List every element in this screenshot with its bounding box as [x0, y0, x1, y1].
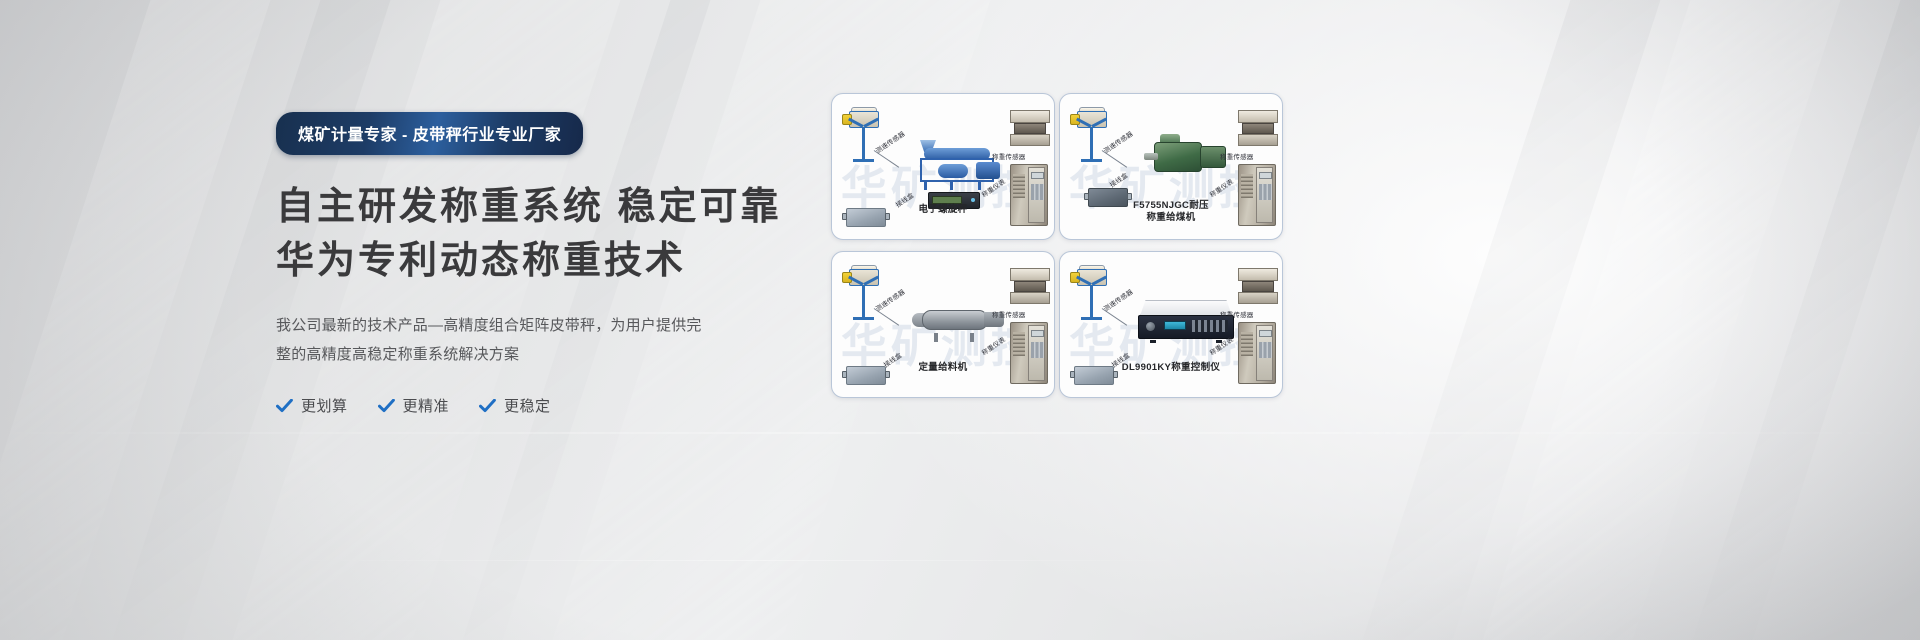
speed-sensor-device — [842, 263, 884, 303]
check-icon — [378, 399, 395, 413]
card-title: 定量给料机 — [832, 362, 1054, 375]
speed-sensor-device — [1070, 105, 1112, 145]
product-card-coal-feeder[interactable]: 华矿测控 测速传感器 称重传感器 接线盒 — [1059, 93, 1283, 240]
feature-item: 更划算 — [276, 395, 348, 416]
feature-item: 更精准 — [378, 395, 450, 416]
product-card-weighing-controller[interactable]: 华矿测控 测速传感器 称重传感器 — [1059, 251, 1283, 398]
card-title-line-2: 称重给煤机 — [1060, 212, 1282, 225]
label-weight-sensor: 称重传感器 — [1220, 309, 1254, 319]
screw-conveyor-device — [916, 140, 1002, 190]
feature-label: 更划算 — [301, 395, 348, 416]
check-icon — [479, 399, 496, 413]
control-panel-device — [1138, 300, 1234, 340]
page-title: 自主研发称重系统 稳定可靠 华为专利动态称重技术 — [276, 181, 896, 289]
load-cell-device — [1008, 266, 1052, 306]
card-title: DL9901KY称重控制仪 — [1060, 362, 1282, 375]
speed-sensor-device — [842, 105, 884, 145]
feature-label: 更稳定 — [504, 395, 551, 416]
feature-item: 更稳定 — [479, 395, 551, 416]
product-card-screw-scale[interactable]: 华矿测控 测速传感器 称重传感器 — [831, 93, 1055, 240]
check-icon — [276, 399, 293, 413]
load-cell-device — [1236, 266, 1280, 306]
speed-sensor-device — [1070, 263, 1112, 303]
hero-banner: 煤矿计量专家 - 皮带秤行业专业厂家 自主研发称重系统 稳定可靠 华为专利动态称… — [0, 0, 1920, 640]
tagline-badge: 煤矿计量专家 - 皮带秤行业专业厂家 — [276, 112, 583, 155]
load-cell-device — [1236, 108, 1280, 148]
hero-copy: 煤矿计量专家 - 皮带秤行业专业厂家 自主研发称重系统 稳定可靠 华为专利动态称… — [276, 112, 896, 416]
gearbox-device — [1144, 134, 1228, 182]
label-weight-sensor: 称重传感器 — [1220, 151, 1254, 161]
product-card-grid: 华矿测控 测速传感器 称重传感器 — [831, 93, 1283, 398]
hero-description: 我公司最新的技术产品—高精度组合矩阵皮带秤，为用户提供完整的高精度高稳定称重系统… — [276, 311, 708, 370]
feeder-device — [912, 304, 1004, 342]
feature-label: 更精准 — [403, 395, 450, 416]
headline-line-1: 自主研发称重系统 稳定可靠 — [276, 181, 896, 235]
card-title: 电子螺旋秤 — [832, 204, 1054, 217]
feature-list: 更划算 更精准 更稳定 — [276, 395, 896, 416]
headline-line-2: 华为专利动态称重技术 — [276, 235, 896, 289]
label-weight-sensor: 称重传感器 — [992, 309, 1026, 319]
product-card-quantitative-feeder[interactable]: 华矿测控 测速传感器 称重传感器 — [831, 251, 1055, 398]
load-cell-device — [1008, 108, 1052, 148]
label-weight-sensor: 称重传感器 — [992, 151, 1026, 161]
